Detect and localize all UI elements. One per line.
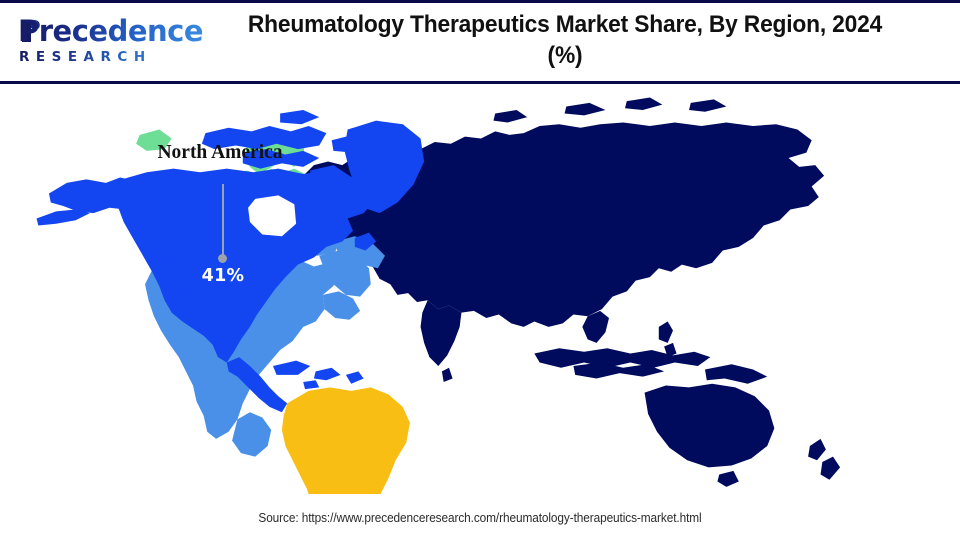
chart-image: Precedence RESEARCH Rheumatology Therape… — [0, 0, 960, 540]
logo-wordmark: Precedence — [18, 14, 203, 48]
world-map: North America 41% — [0, 84, 960, 498]
page-title: Rheumatology Therapeutics Market Share, … — [240, 9, 891, 71]
world-map-svg — [36, 94, 926, 494]
source-note: Source: https://www.precedenceresearch.c… — [29, 511, 931, 525]
footer: Source: https://www.precedenceresearch.c… — [0, 498, 960, 540]
logo-subtitle: RESEARCH — [19, 49, 152, 65]
region-latin-america — [282, 387, 410, 494]
header: Precedence RESEARCH Rheumatology Therape… — [0, 3, 960, 81]
precedence-research-logo: Precedence RESEARCH — [14, 12, 174, 74]
